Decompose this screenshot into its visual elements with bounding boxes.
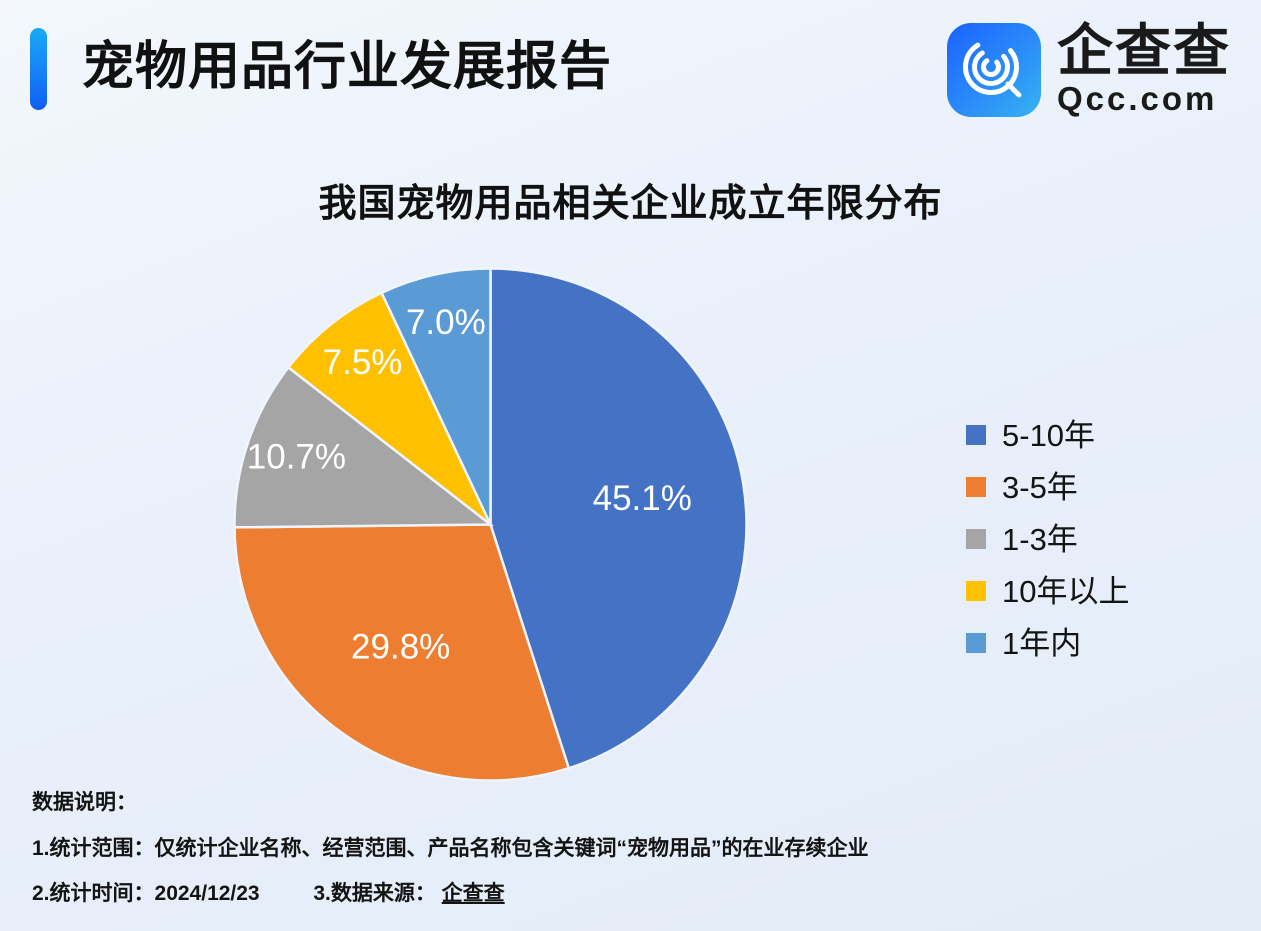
legend-swatch-icon: [966, 581, 986, 601]
legend-item-label: 10年以上: [1002, 576, 1129, 607]
pie-slice-label: 45.1%: [593, 479, 692, 518]
footer-notes: 数据说明： 1.统计范围：仅统计企业名称、经营范围、产品名称包含关键词“宠物用品…: [32, 786, 869, 922]
legend-item-label: 1年内: [1002, 628, 1081, 659]
chart-legend: 5-10年3-5年1-3年10年以上1年内: [966, 422, 1129, 656]
legend-item[interactable]: 10年以上: [966, 578, 1129, 604]
legend-item[interactable]: 3-5年: [966, 474, 1129, 500]
legend-item-label: 5-10年: [1002, 420, 1095, 451]
legend-swatch-icon: [966, 529, 986, 549]
brand-name-cn: 企查查: [1057, 22, 1231, 79]
legend-swatch-icon: [966, 477, 986, 497]
footer-note-time: 2.统计时间：2024/12/23: [32, 882, 260, 905]
brand-logo: 企查查 Qcc.com: [947, 22, 1231, 117]
legend-item[interactable]: 5-10年: [966, 422, 1129, 448]
pie-slice-label: 10.7%: [247, 437, 346, 476]
legend-item-label: 3-5年: [1002, 472, 1078, 503]
legend-item-label: 1-3年: [1002, 524, 1078, 555]
pie-slice-label: 29.8%: [351, 627, 450, 666]
brand-wordmark: 企查查 Qcc.com: [1057, 22, 1231, 117]
legend-item[interactable]: 1年内: [966, 630, 1129, 656]
footer-note-source-label: 3.数据来源：: [313, 882, 436, 905]
page-header: 宠物用品行业发展报告 企查查 Qcc.com: [0, 0, 1261, 140]
page-title: 宠物用品行业发展报告: [82, 24, 612, 99]
chart-title: 我国宠物用品相关企业成立年限分布: [0, 172, 1261, 227]
title-accent-bar: [30, 28, 47, 110]
brand-name-en: Qcc.com: [1057, 81, 1217, 117]
footer-note-scope: 1.统计范围：仅统计企业名称、经营范围、产品名称包含关键词“宠物用品”的在业存续…: [32, 832, 869, 862]
legend-swatch-icon: [966, 633, 986, 653]
legend-item[interactable]: 1-3年: [966, 526, 1129, 552]
footer-note-source-value: 企查查: [442, 882, 505, 905]
pie-slice-label: 7.5%: [323, 343, 403, 382]
legend-swatch-icon: [966, 425, 986, 445]
pie-chart-svg: 45.1%29.8%10.7%7.5%7.0%: [228, 262, 753, 787]
pie-chart: 45.1%29.8%10.7%7.5%7.0%: [228, 262, 753, 787]
footer-heading: 数据说明：: [32, 786, 869, 816]
footer-note-time-source: 2.统计时间：2024/12/23 3.数据来源： 企查查: [32, 877, 869, 907]
pie-slice-label: 7.0%: [406, 303, 486, 342]
qcc-logo-icon: [947, 23, 1041, 117]
